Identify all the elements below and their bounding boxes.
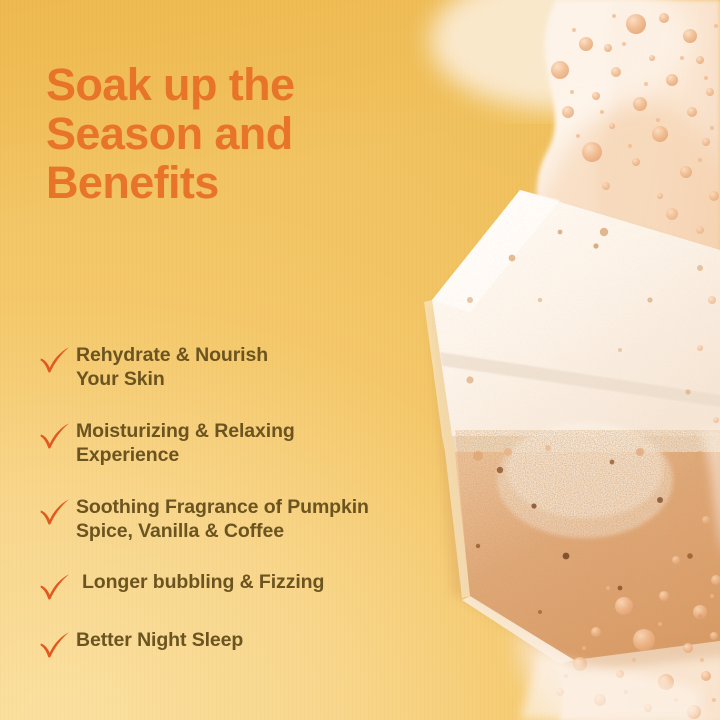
check-icon bbox=[38, 344, 72, 374]
list-item-label: Longer bubbling & Fizzing bbox=[76, 569, 324, 594]
check-icon bbox=[38, 571, 72, 601]
check-icon bbox=[38, 629, 72, 659]
list-item: Rehydrate & Nourish Your Skin bbox=[38, 342, 468, 392]
list-item-label: Moisturizing & Relaxing Experience bbox=[76, 418, 295, 468]
benefits-list: Rehydrate & Nourish Your Skin Moisturizi… bbox=[38, 342, 468, 659]
list-item-label: Better Night Sleep bbox=[76, 627, 243, 652]
check-icon bbox=[38, 420, 72, 450]
promo-poster: Soak up the Season and Benefits Rehydrat… bbox=[0, 0, 720, 720]
list-item-label: Soothing Fragrance of Pumpkin Spice, Van… bbox=[76, 494, 369, 544]
list-item-label: Rehydrate & Nourish Your Skin bbox=[76, 342, 268, 392]
list-item: Better Night Sleep bbox=[38, 627, 468, 659]
list-item: Moisturizing & Relaxing Experience bbox=[38, 418, 468, 468]
page-title: Soak up the Season and Benefits bbox=[46, 60, 406, 207]
list-item: Soothing Fragrance of Pumpkin Spice, Van… bbox=[38, 494, 468, 544]
check-icon bbox=[38, 496, 72, 526]
list-item: Longer bubbling & Fizzing bbox=[38, 569, 468, 601]
